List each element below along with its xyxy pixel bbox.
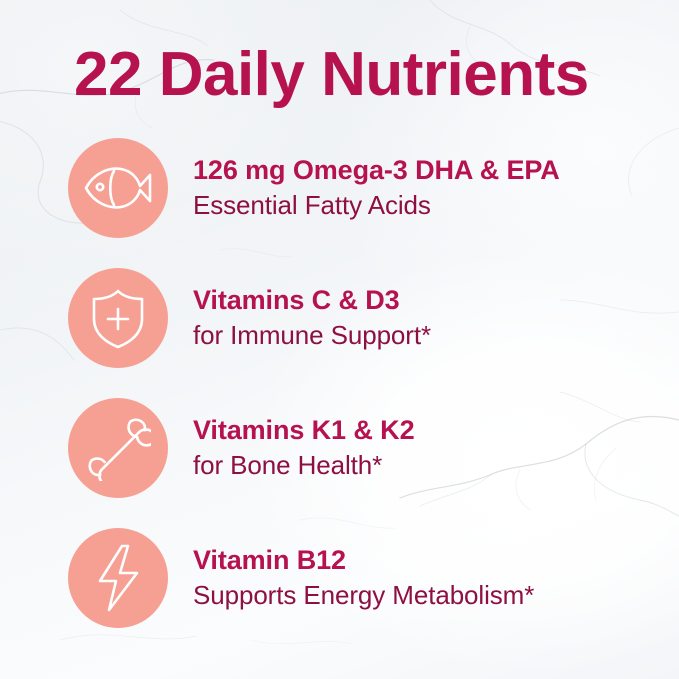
list-item: 126 mg Omega-3 DHA & EPA Essential Fatty… (68, 138, 668, 238)
list-item-text: Vitamin B12 Supports Energy Metabolism* (193, 543, 534, 613)
icon-badge (68, 528, 168, 628)
icon-badge (68, 398, 168, 498)
list-item: Vitamins C & D3 for Immune Support* (68, 268, 668, 368)
nutrient-list: 126 mg Omega-3 DHA & EPA Essential Fatty… (0, 0, 679, 679)
shield-plus-icon (88, 286, 148, 350)
icon-badge (68, 268, 168, 368)
list-item-text: Vitamins C & D3 for Immune Support* (193, 283, 431, 353)
nutrient-subline: Supports Energy Metabolism* (193, 579, 534, 613)
bone-icon (85, 415, 151, 481)
nutrient-subline: for Bone Health* (193, 449, 414, 483)
nutrient-headline: Vitamin B12 (193, 543, 534, 578)
icon-badge (68, 138, 168, 238)
nutrient-headline: 126 mg Omega-3 DHA & EPA (193, 153, 560, 188)
list-item: Vitamin B12 Supports Energy Metabolism* (68, 528, 668, 628)
fish-icon (82, 160, 154, 216)
list-item-text: Vitamins K1 & K2 for Bone Health* (193, 413, 414, 483)
nutrient-headline: Vitamins K1 & K2 (193, 413, 414, 448)
nutrient-headline: Vitamins C & D3 (193, 283, 431, 318)
list-item: Vitamins K1 & K2 for Bone Health* (68, 398, 668, 498)
nutrient-subline: for Immune Support* (193, 319, 431, 353)
nutrients-infographic: 22 Daily Nutrients 126 mg Omega-3 DHA & … (0, 0, 679, 679)
nutrient-subline: Essential Fatty Acids (193, 189, 560, 223)
list-item-text: 126 mg Omega-3 DHA & EPA Essential Fatty… (193, 153, 560, 223)
lightning-bolt-icon (92, 543, 144, 613)
